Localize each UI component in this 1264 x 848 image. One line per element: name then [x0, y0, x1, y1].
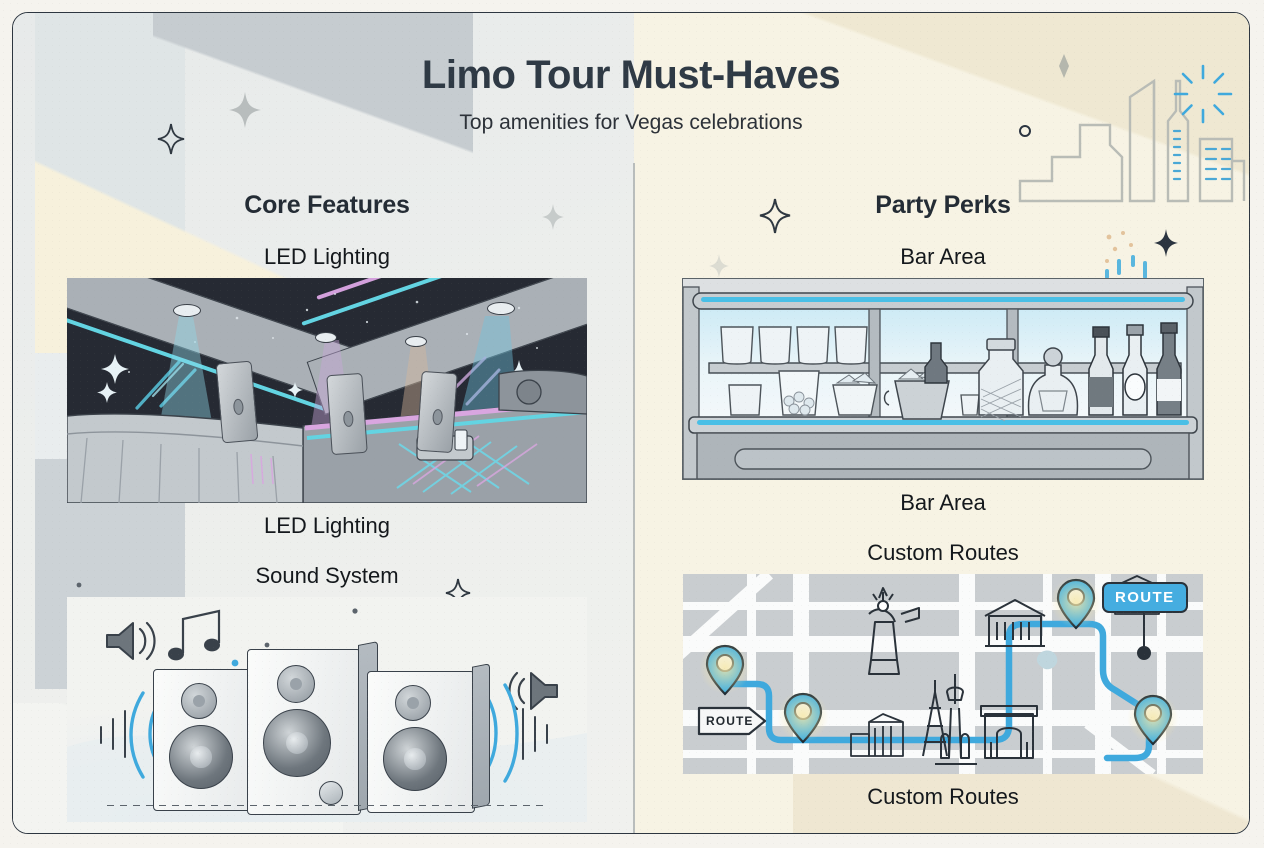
- header: Limo Tour Must-Haves Top amenities for V…: [13, 53, 1249, 135]
- card-sound-system[interactable]: Sound System: [47, 563, 607, 834]
- city-map-route-illustration: ROUTE ROUTE: [683, 574, 1203, 774]
- map-pin[interactable]: [1133, 694, 1173, 746]
- column-core-features: Core Features LED Lighting: [47, 191, 607, 834]
- column-divider: [633, 163, 635, 833]
- map-pin[interactable]: [1056, 578, 1096, 630]
- card-top-label: Sound System: [47, 563, 607, 589]
- bar-shelf-illustration: [682, 278, 1204, 480]
- map-pin[interactable]: [705, 644, 745, 696]
- card-top-label: LED Lighting: [47, 244, 607, 270]
- card-led-lighting[interactable]: LED Lighting: [47, 244, 607, 539]
- card-bottom-label: Bar Area: [663, 490, 1223, 516]
- card-bottom-label: Custom Routes: [663, 784, 1223, 810]
- card-custom-routes[interactable]: Custom Routes: [663, 540, 1223, 810]
- speakers-audio-illustration: [67, 597, 587, 822]
- card-top-label: Custom Routes: [663, 540, 1223, 566]
- limo-interior-led-illustration: [67, 278, 587, 503]
- route-badge-stem: [1143, 608, 1145, 648]
- card-bar-area[interactable]: Bar Area: [663, 244, 1223, 516]
- ground-line: [107, 805, 547, 806]
- route-badge[interactable]: ROUTE: [1102, 582, 1188, 613]
- card-top-label: Bar Area: [663, 244, 1223, 270]
- column-party-perks: Party Perks Bar Area: [663, 191, 1223, 810]
- map-pin[interactable]: [783, 692, 823, 744]
- card-bottom-label: LED Lighting: [47, 513, 607, 539]
- page-title: Limo Tour Must-Haves: [13, 53, 1249, 97]
- page-subtitle: Top amenities for Vegas celebrations: [13, 111, 1249, 135]
- route-badge-dot: [1137, 646, 1151, 660]
- route-sign-label: ROUTE: [706, 714, 754, 728]
- column-heading: Core Features: [47, 191, 607, 220]
- route-sign[interactable]: ROUTE: [697, 706, 767, 741]
- card-bottom-label: Sound System: [47, 832, 607, 834]
- column-heading: Party Perks: [663, 191, 1223, 220]
- infographic-frame: Limo Tour Must-Haves Top amenities for V…: [12, 12, 1250, 834]
